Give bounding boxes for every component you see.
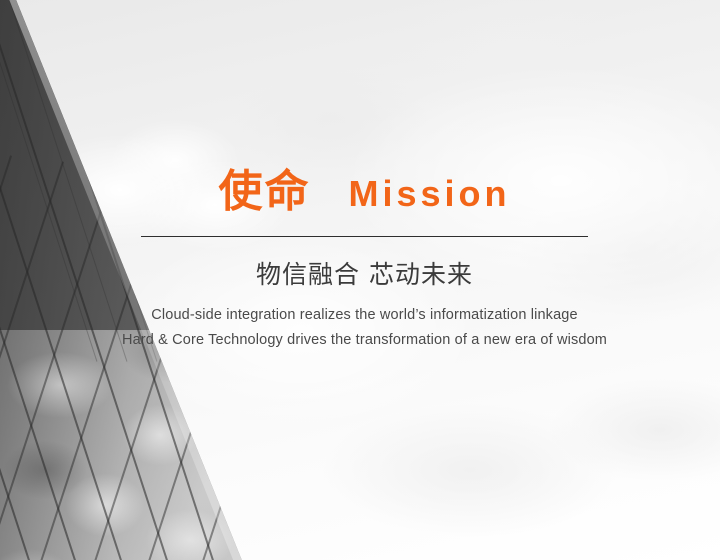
title-chinese: 使命 [218,170,310,214]
page-title: 使命 Mission [141,170,588,214]
title-divider [141,236,588,237]
tagline-group: Cloud-side integration realizes the worl… [60,303,669,353]
tagline-line-1: Cloud-side integration realizes the worl… [60,303,669,328]
tagline-line-2: Hard & Core Technology drives the transf… [60,328,669,353]
banner-content: 使命 Mission 物信融合 芯动未来 Cloud-side integrat… [0,0,720,560]
subtitle-chinese: 物信融合 芯动未来 [141,259,588,291]
mission-banner: 使命 Mission 物信融合 芯动未来 Cloud-side integrat… [0,0,720,560]
title-english: Mission [348,176,510,212]
